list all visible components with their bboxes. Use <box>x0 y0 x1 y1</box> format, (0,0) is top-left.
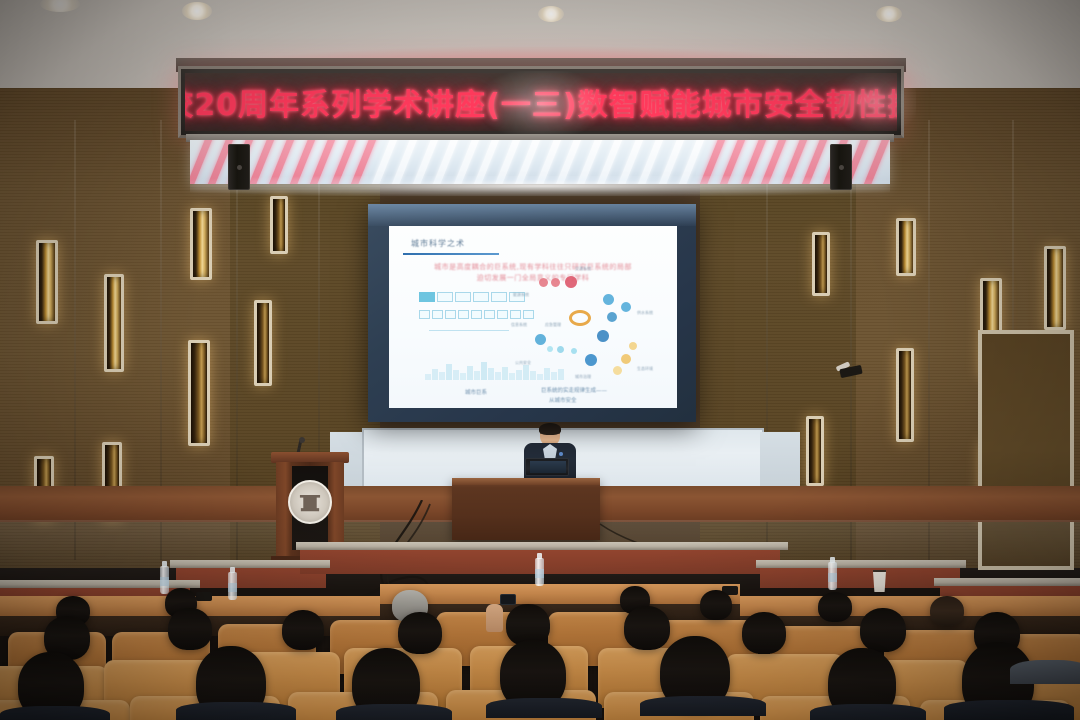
slide-node-label: 信息系统 <box>511 322 527 328</box>
skyline-building <box>537 374 543 380</box>
slide-caption-left: 城市巨系 <box>465 388 487 396</box>
water-bottle <box>160 566 169 594</box>
slide-bar-cell <box>484 310 495 319</box>
slide-bar-cell <box>455 292 471 302</box>
wall-light-niche <box>254 300 272 386</box>
slide-diagram-node <box>565 276 577 288</box>
skyline-building <box>474 371 480 380</box>
wall-light-niche <box>896 348 914 442</box>
slide-bar-cell <box>523 310 534 319</box>
desk-microphone <box>196 592 212 601</box>
skyline-building <box>558 369 564 380</box>
auditorium-photo: 建校20周年系列学术讲座(一三)数智赋能城市安全韧性提升 城市科学之术 城市是高… <box>0 0 1080 720</box>
audience-head <box>168 608 212 650</box>
slide-bar-cell <box>437 292 453 302</box>
slide-bar-cell <box>510 310 521 319</box>
slide-node-label: 交通系统 <box>575 266 591 272</box>
laptop <box>525 458 569 476</box>
slide-title: 城市科学之术 <box>411 238 465 249</box>
skyline-building <box>551 372 557 380</box>
audience-head <box>860 608 906 652</box>
slide-diagram-node <box>621 302 631 312</box>
stage-nosing <box>0 580 200 588</box>
slide-bar-cell <box>491 292 507 302</box>
coffee-cup <box>872 570 887 592</box>
whiteboard-right-segment <box>760 432 800 486</box>
slide-bar-cell <box>445 310 456 319</box>
audience-shoulders <box>810 704 926 720</box>
audience-desk-ledge <box>740 596 1080 618</box>
slide-subtitle: 城市是高度耦合的巨系统,现有学科往往只研究巨系统的局部 迫切发展一门全局意义的专… <box>417 262 649 284</box>
slide-diagram-node <box>629 342 637 350</box>
wall-light-niche <box>812 232 830 296</box>
stage-speaker-right <box>830 144 852 190</box>
skyline-building <box>460 373 466 380</box>
skyline-building <box>495 372 501 380</box>
slide-node-label: 公共安全 <box>515 360 531 366</box>
skyline-building <box>425 374 431 380</box>
skyline-building <box>439 372 445 380</box>
wall-light-niche <box>188 340 210 446</box>
university-seal-icon <box>288 480 332 524</box>
slide-diagram-node <box>571 348 577 354</box>
water-bottle <box>535 558 544 586</box>
wall-light-niche <box>806 416 824 486</box>
stage-speaker-left <box>228 144 250 190</box>
slide-horizon-line <box>429 330 509 331</box>
slide-diagram-node <box>597 330 609 342</box>
skyline-building <box>432 369 438 380</box>
slide-bar-cell <box>497 310 508 319</box>
stage-nosing <box>170 560 330 568</box>
audience-shoulders <box>640 696 766 716</box>
slide-bar-cell <box>432 310 443 319</box>
wall-light-niche <box>1044 246 1066 330</box>
skyline-building <box>509 373 515 380</box>
slide-node-label: 应急管理 <box>545 322 561 328</box>
valance-glow <box>190 176 890 196</box>
skyline-building <box>530 371 536 380</box>
slide-bar-cell <box>473 292 489 302</box>
stage-step <box>760 566 960 588</box>
slide-diagram-node <box>621 354 631 364</box>
audience-head <box>930 596 964 626</box>
water-bottle <box>828 562 837 590</box>
slide-diagram-node <box>557 346 564 353</box>
slide-node-label: 城市治理 <box>575 374 591 380</box>
audience-shoulders <box>1010 660 1080 684</box>
slide-node-label: 供水系统 <box>637 310 653 316</box>
projection-screen: 城市科学之术 城市是高度耦合的巨系统,现有学科往往只研究巨系统的局部 迫切发展一… <box>368 204 696 422</box>
slide-node-label: 能源系统 <box>513 292 529 298</box>
slide-bar-row-bottom <box>419 310 534 319</box>
audience-head <box>742 612 786 654</box>
wall-light-niche <box>104 274 124 372</box>
skyline-building <box>488 368 494 380</box>
audience-shoulders <box>0 706 110 720</box>
slide-bar-cell <box>419 310 430 319</box>
slide-node-label: 生态环境 <box>637 366 653 372</box>
audience-head <box>818 592 852 622</box>
stage-nosing <box>934 578 1080 586</box>
skyline-building <box>516 370 522 380</box>
audience-head <box>282 610 324 650</box>
slide-bar-row-top <box>419 292 525 302</box>
slide-node-ring <box>569 310 591 326</box>
slide-subtitle-line-1: 城市是高度耦合的巨系统,现有学科往往只研究巨系统的局部 <box>434 263 632 271</box>
slide-diagram-node <box>539 278 548 287</box>
slide-bar-cell <box>471 310 482 319</box>
slide-diagram-node <box>613 366 622 375</box>
banner-text: 建校20周年系列学术讲座(一三)数智赋能城市安全韧性提升 <box>185 80 897 124</box>
slide-caption-right: 巨系统的实走规律生成—— <box>541 386 607 394</box>
downlight-2 <box>538 6 564 22</box>
stage-nosing <box>756 560 966 568</box>
presenter-badge <box>559 452 563 456</box>
slide-city-skyline <box>425 354 565 380</box>
slide-diagram-node <box>551 278 560 287</box>
skyline-building <box>481 362 487 380</box>
wall-light-niche <box>270 196 288 254</box>
wall-light-niche <box>190 208 212 280</box>
audience-head <box>398 612 442 654</box>
slide-caption-right-2: 从城市安全 <box>549 396 577 404</box>
slide-diagram-node <box>535 334 546 345</box>
skyline-building <box>467 366 473 380</box>
slide-diagram-node <box>547 346 553 352</box>
slide-diagram-node <box>585 354 597 366</box>
presentation-slide: 城市科学之术 城市是高度耦合的巨系统,现有学科往往只研究巨系统的局部 迫切发展一… <box>389 226 677 408</box>
screen-sheen <box>368 204 696 226</box>
slide-bar-cell <box>458 310 469 319</box>
lectern-microphone-head <box>299 437 305 443</box>
downlight-1 <box>182 2 212 20</box>
audience-shoulders <box>176 702 296 720</box>
audience-shoulders <box>486 698 602 718</box>
skyline-building <box>544 368 550 380</box>
wall-light-niche <box>896 218 916 276</box>
audience-head <box>624 606 670 650</box>
skyline-building <box>523 365 529 380</box>
slide-diagram-node <box>607 312 617 322</box>
led-banner: 建校20周年系列学术讲座(一三)数智赋能城市安全韧性提升 <box>178 66 904 138</box>
skyline-building <box>453 370 459 380</box>
water-bottle <box>228 572 237 600</box>
stage-nosing <box>296 542 788 550</box>
skyline-building <box>446 364 452 380</box>
phone <box>500 594 516 605</box>
slide-title-rule <box>403 253 499 255</box>
wall-light-niche <box>36 240 58 324</box>
downlight-3 <box>876 6 902 22</box>
slide-bar-cell <box>419 292 435 302</box>
slide-diagram-node <box>603 294 614 305</box>
skyline-building <box>502 367 508 380</box>
raised-hand <box>486 604 503 632</box>
audience-shoulders <box>944 700 1074 720</box>
audience-desk-ledge <box>380 584 740 606</box>
camera-icon <box>836 364 866 378</box>
audience-shoulders <box>336 704 452 720</box>
audience-head <box>700 590 732 620</box>
